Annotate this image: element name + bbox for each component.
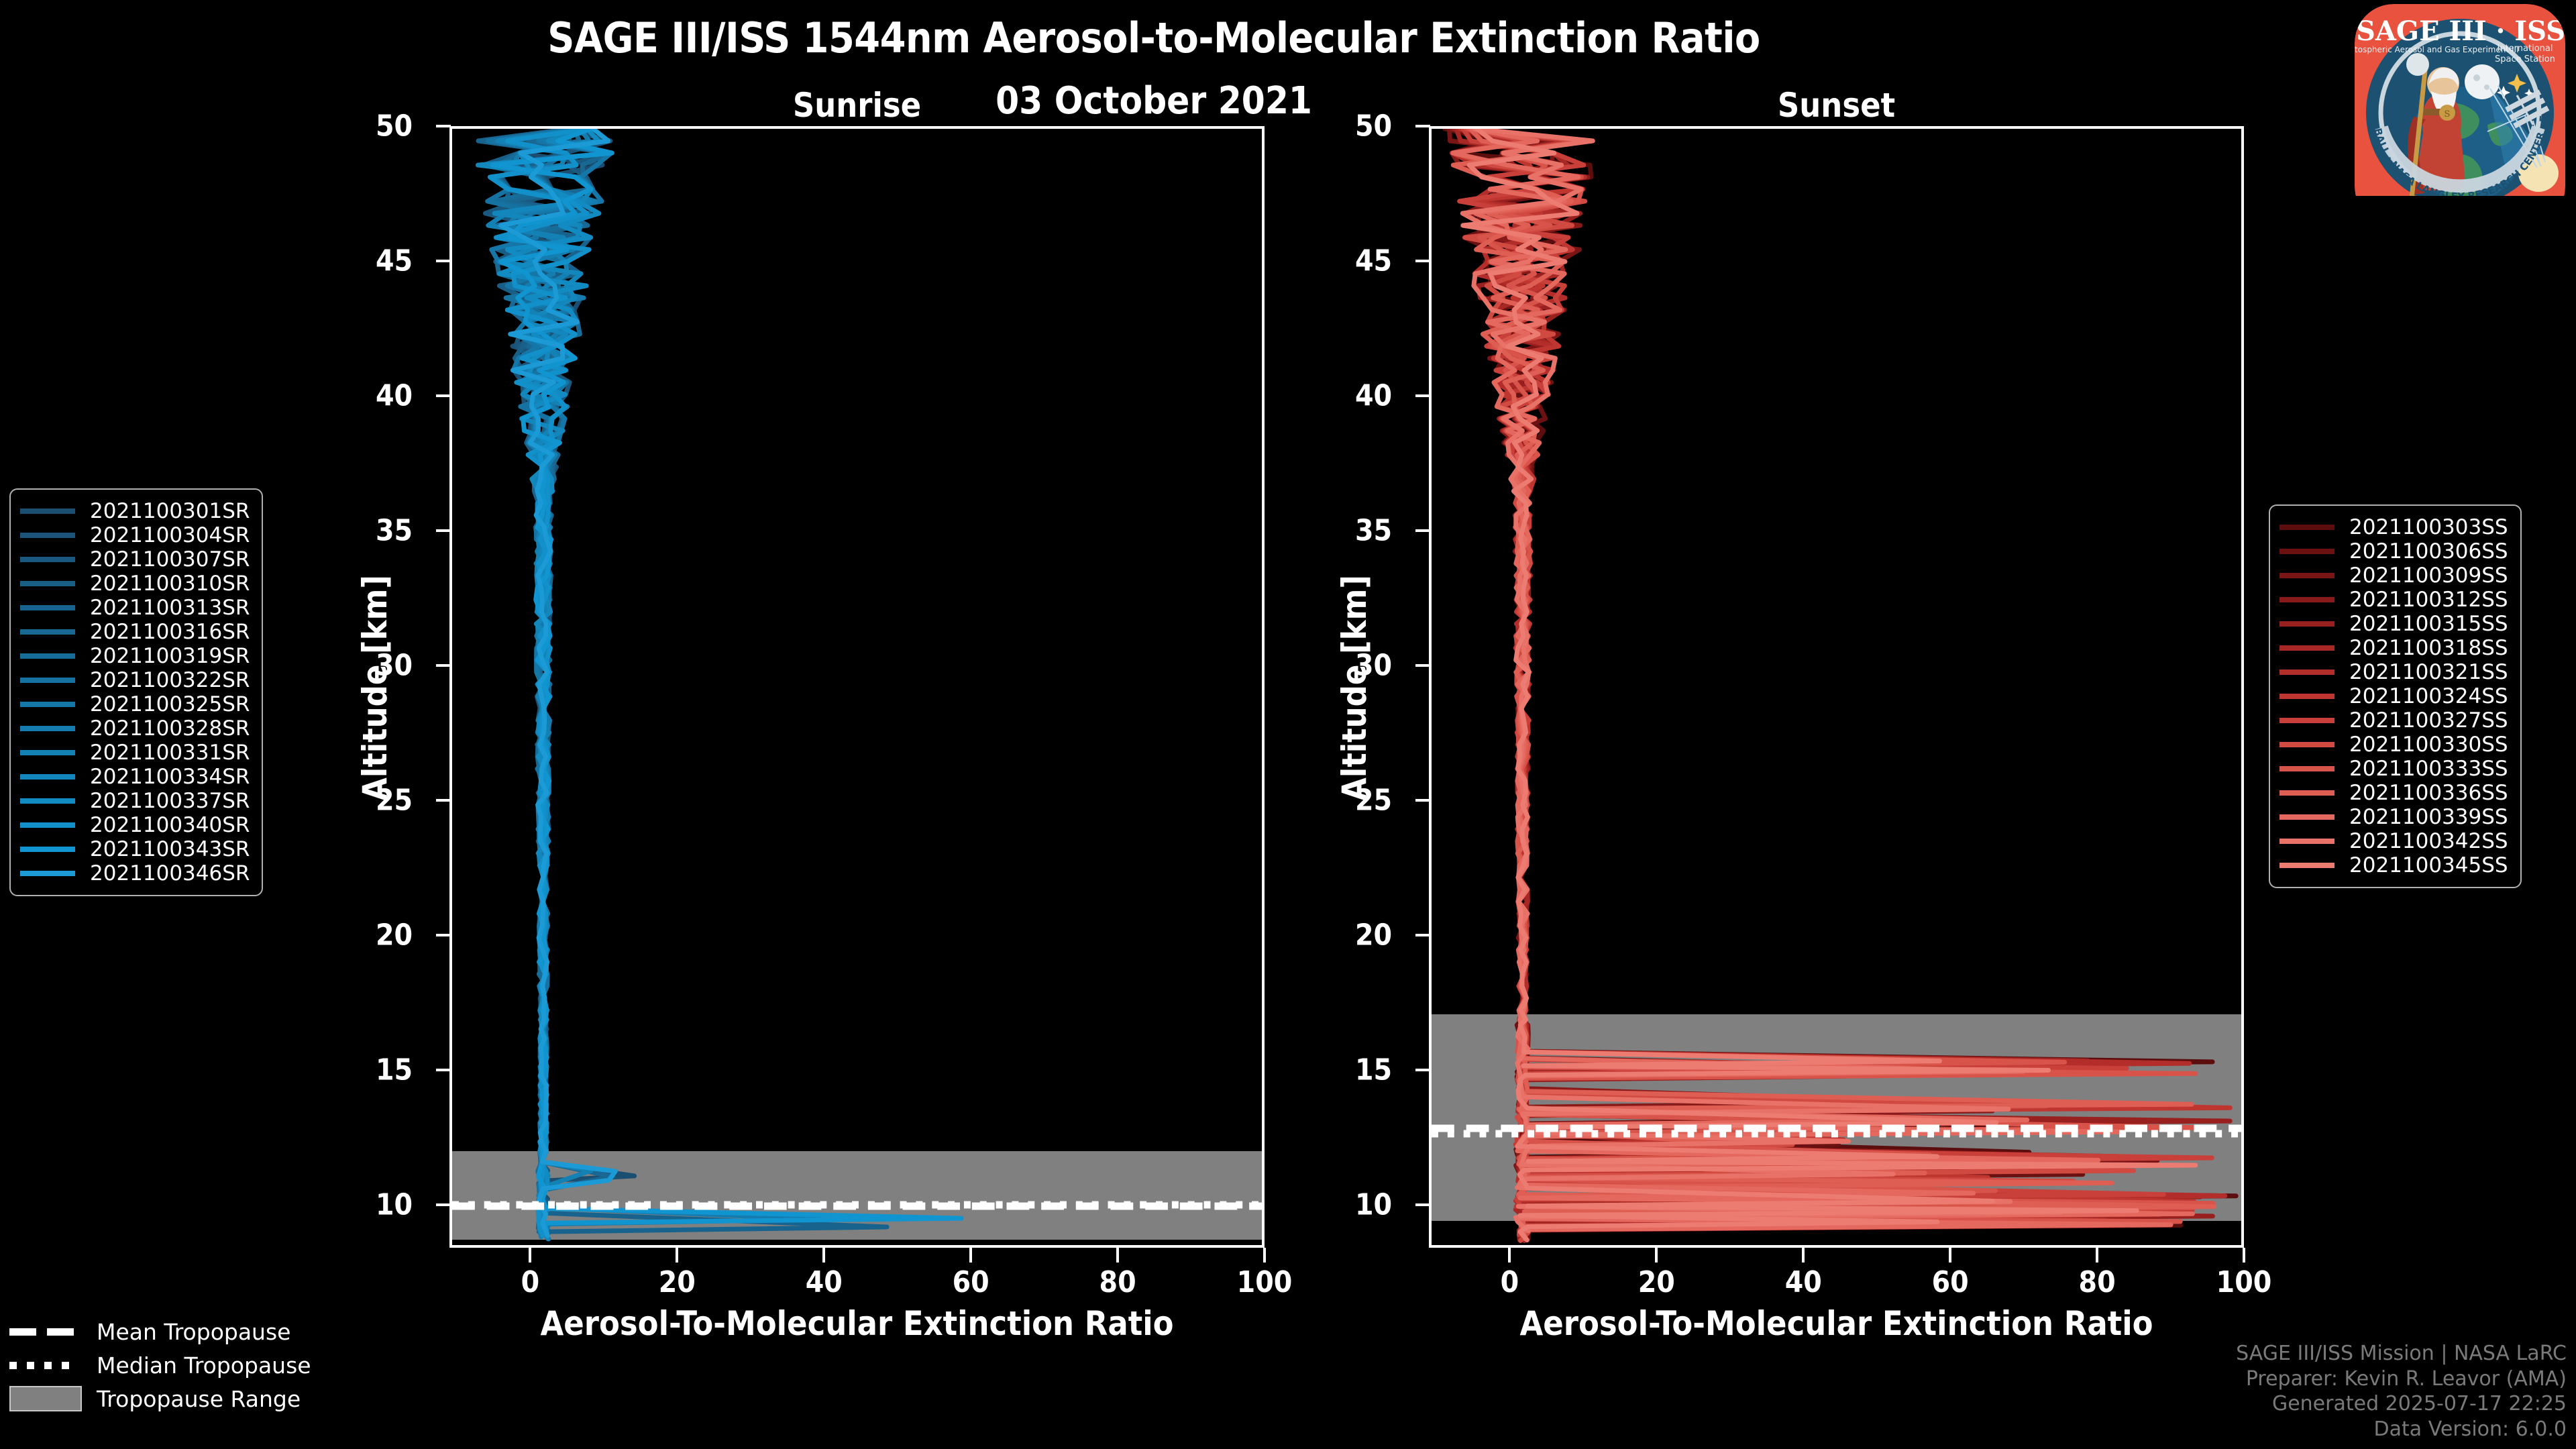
x-axis-tick-0: 0: [521, 1265, 540, 1299]
legend-item-label: 2021100316SR: [90, 620, 250, 644]
legend-color-swatch: [20, 822, 75, 828]
legend-item-label: 2021100334SR: [90, 765, 250, 789]
legend-item-label: 2021100339SS: [2349, 805, 2508, 829]
legend-color-swatch: [2279, 597, 2334, 602]
x-axis-tickmark: [529, 1248, 531, 1263]
x-axis-tickmark: [1655, 1248, 1658, 1263]
y-axis-tickmark: [1415, 799, 1430, 802]
legend-color-swatch: [2279, 814, 2334, 820]
y-axis-tickmark: [436, 799, 451, 802]
range-patch-icon: [9, 1389, 83, 1408]
x-axis-tick-100: 100: [2216, 1265, 2272, 1299]
y-axis-tick-10: 10: [1355, 1187, 1409, 1222]
y-axis-tick-45: 45: [376, 244, 429, 278]
legend-color-swatch: [2279, 790, 2334, 796]
legend-item-2021100325SR[interactable]: 2021100325SR: [20, 692, 250, 716]
y-axis-tickmark: [436, 529, 451, 532]
legend-item-label: 2021100312SS: [2349, 588, 2508, 612]
sunrise-panel-label: Sunrise: [449, 86, 1265, 125]
x-axis-tickmark: [969, 1248, 972, 1263]
legend-item-2021100330SS[interactable]: 2021100330SS: [2279, 733, 2508, 757]
legend-item-2021100312SS[interactable]: 2021100312SS: [2279, 588, 2508, 612]
sunset-panel-label: Sunset: [1429, 86, 2244, 125]
sunrise-plot-area: [449, 126, 1265, 1248]
y-axis-tick-15: 15: [376, 1053, 429, 1087]
legend-color-swatch: [2279, 669, 2334, 675]
sunrise-plot-panel: [449, 126, 1265, 1248]
x-axis-tickmark: [1949, 1248, 1951, 1263]
credits-line-mission: SAGE III/ISS Mission | NASA LaRC: [2236, 1341, 2567, 1366]
legend-item-label: 2021100345SS: [2349, 853, 2508, 877]
credits-line-preparer: Preparer: Kevin R. Leavor (AMA): [2236, 1366, 2567, 1392]
legend-color-swatch: [20, 605, 75, 610]
y-axis-tick-50: 50: [1355, 109, 1409, 144]
legend-color-swatch: [2279, 742, 2334, 747]
legend-item-2021100333SS[interactable]: 2021100333SS: [2279, 757, 2508, 781]
legend-color-swatch: [2279, 863, 2334, 868]
y-axis-tick-20: 20: [1355, 918, 1409, 952]
sunset-x-axis-label: Aerosol-To-Molecular Extinction Ratio: [1429, 1304, 2244, 1343]
x-axis-tickmark: [1116, 1248, 1119, 1263]
tropopause-legend: Mean Tropopause Median Tropopause Tropop…: [9, 1315, 311, 1415]
legend-item-label: 2021100322SR: [90, 668, 250, 692]
y-axis-tickmark: [436, 1203, 451, 1206]
legend-item-label: 2021100304SR: [90, 523, 250, 547]
x-axis-tick-80: 80: [1099, 1265, 1136, 1299]
legend-color-swatch: [20, 750, 75, 755]
y-axis-tick-50: 50: [376, 109, 429, 144]
legend-item-label: 2021100318SS: [2349, 636, 2508, 660]
y-axis-tick-15: 15: [1355, 1053, 1409, 1087]
legend-color-swatch: [20, 871, 75, 876]
legend-item-2021100301SR[interactable]: 2021100301SR: [20, 499, 250, 523]
logo-title: SAGE III · ISS: [2356, 15, 2565, 47]
y-axis-tickmark: [1415, 529, 1430, 532]
logo-subtitle-right-1: International: [2498, 44, 2553, 54]
dashed-line-icon: [9, 1322, 83, 1341]
sunset-legend[interactable]: 2021100303SS2021100306SS2021100309SS2021…: [2269, 504, 2522, 888]
sunrise-y-axis-label: Altitude [km]: [356, 575, 394, 801]
y-axis-tickmark: [1415, 664, 1430, 667]
legend-item-label: 2021100315SS: [2349, 612, 2508, 636]
legend-item-2021100343SR[interactable]: 2021100343SR: [20, 837, 250, 861]
legend-item-2021100310SR[interactable]: 2021100310SR: [20, 572, 250, 596]
x-axis-tickmark: [1508, 1248, 1511, 1263]
credits-line-generated: Generated 2025-07-17 22:25: [2236, 1391, 2567, 1417]
y-axis-tick-35: 35: [376, 513, 429, 547]
legend-color-swatch: [20, 678, 75, 683]
legend-row-mean-tropopause: Mean Tropopause: [9, 1315, 311, 1348]
legend-item-2021100321SS[interactable]: 2021100321SS: [2279, 660, 2508, 684]
svg-text:S: S: [2445, 109, 2451, 119]
legend-item-label: 2021100303SS: [2349, 515, 2508, 539]
legend-item-2021100328SR[interactable]: 2021100328SR: [20, 716, 250, 741]
x-axis-tickmark: [1263, 1248, 1266, 1263]
legend-color-swatch: [20, 798, 75, 804]
x-axis-tick-20: 20: [1638, 1265, 1675, 1299]
y-axis-tickmark: [1415, 394, 1430, 397]
sunset-plot-panel: [1429, 126, 2244, 1248]
legend-item-2021100313SR[interactable]: 2021100313SR: [20, 596, 250, 620]
legend-item-label: 2021100346SR: [90, 861, 250, 885]
legend-color-swatch: [2279, 839, 2334, 844]
legend-item-2021100342SS[interactable]: 2021100342SS: [2279, 829, 2508, 853]
legend-color-swatch: [2279, 694, 2334, 699]
legend-item-label: 2021100325SR: [90, 692, 250, 716]
x-axis-tickmark: [1802, 1248, 1805, 1263]
y-axis-tickmark: [436, 664, 451, 667]
y-axis-tick-40: 40: [376, 378, 429, 413]
y-axis-tickmark: [436, 934, 451, 936]
legend-label-tropopause-range: Tropopause Range: [97, 1386, 301, 1412]
legend-item-2021100319SR[interactable]: 2021100319SR: [20, 644, 250, 668]
logo-subtitle-left: Stratospheric Aerosol and Gas Experiment…: [2349, 45, 2519, 54]
legend-item-label: 2021100301SR: [90, 499, 250, 523]
x-axis-tick-100: 100: [1237, 1265, 1293, 1299]
sage-iii-iss-mission-logo: S BALL · NASA LANGLEY RESEARCH CENTER · …: [2349, 0, 2571, 196]
credits-block: SAGE III/ISS Mission | NASA LaRC Prepare…: [2236, 1341, 2567, 1442]
legend-item-label: 2021100333SS: [2349, 757, 2508, 781]
legend-color-swatch: [2279, 549, 2334, 554]
y-axis-tick-35: 35: [1355, 513, 1409, 547]
x-axis-tick-60: 60: [1932, 1265, 1969, 1299]
legend-item-label: 2021100324SS: [2349, 684, 2508, 708]
legend-item-label: 2021100331SR: [90, 741, 250, 765]
legend-item-label: 2021100343SR: [90, 837, 250, 861]
legend-item-2021100315SS[interactable]: 2021100315SS: [2279, 612, 2508, 636]
legend-item-label: 2021100342SS: [2349, 829, 2508, 853]
legend-color-swatch: [20, 774, 75, 780]
legend-item-2021100324SS[interactable]: 2021100324SS: [2279, 684, 2508, 708]
legend-item-label: 2021100328SR: [90, 716, 250, 741]
legend-item-label: 2021100319SR: [90, 644, 250, 668]
legend-item-2021100304SR[interactable]: 2021100304SR: [20, 523, 250, 547]
legend-row-median-tropopause: Median Tropopause: [9, 1348, 311, 1382]
x-axis-tick-0: 0: [1501, 1265, 1519, 1299]
legend-color-swatch: [20, 508, 75, 514]
y-axis-tick-10: 10: [376, 1187, 429, 1222]
sunrise-legend[interactable]: 2021100301SR2021100304SR2021100307SR2021…: [9, 488, 263, 896]
legend-color-swatch: [2279, 766, 2334, 771]
y-axis-tick-45: 45: [1355, 244, 1409, 278]
legend-item-2021100306SS[interactable]: 2021100306SS: [2279, 539, 2508, 563]
legend-item-label: 2021100306SS: [2349, 539, 2508, 563]
legend-row-tropopause-range: Tropopause Range: [9, 1382, 311, 1415]
legend-item-2021100322SR[interactable]: 2021100322SR: [20, 668, 250, 692]
credits-line-data-version: Data Version: 6.0.0: [2236, 1417, 2567, 1442]
x-axis-tick-60: 60: [953, 1265, 989, 1299]
x-axis-tick-40: 40: [806, 1265, 843, 1299]
legend-item-2021100339SS[interactable]: 2021100339SS: [2279, 805, 2508, 829]
legend-item-label: 2021100340SR: [90, 813, 250, 837]
legend-color-swatch: [2279, 573, 2334, 578]
legend-color-swatch: [20, 702, 75, 707]
legend-color-swatch: [20, 581, 75, 586]
y-axis-tickmark: [436, 125, 451, 127]
x-axis-tickmark: [2243, 1248, 2245, 1263]
logo-subtitle-right-2: Space Station: [2495, 54, 2555, 64]
legend-item-label: 2021100327SS: [2349, 708, 2508, 733]
legend-item-2021100334SR[interactable]: 2021100334SR: [20, 765, 250, 789]
legend-item-2021100307SR[interactable]: 2021100307SR: [20, 547, 250, 572]
legend-item-2021100340SR[interactable]: 2021100340SR: [20, 813, 250, 837]
legend-color-swatch: [20, 726, 75, 731]
legend-color-swatch: [2279, 645, 2334, 651]
x-axis-tickmark: [2096, 1248, 2098, 1263]
x-axis-tickmark: [822, 1248, 825, 1263]
y-axis-tick-20: 20: [376, 918, 429, 952]
dotted-line-icon: [9, 1356, 83, 1375]
sunset-y-axis-label: Altitude [km]: [1335, 575, 1374, 801]
legend-item-label: 2021100313SR: [90, 596, 250, 620]
legend-item-label: 2021100336SS: [2349, 781, 2508, 805]
legend-item-2021100309SS[interactable]: 2021100309SS: [2279, 563, 2508, 588]
legend-item-2021100327SS[interactable]: 2021100327SS: [2279, 708, 2508, 733]
x-axis-tick-80: 80: [2079, 1265, 2116, 1299]
legend-item-2021100345SS[interactable]: 2021100345SS: [2279, 853, 2508, 877]
y-axis-tickmark: [1415, 1203, 1430, 1206]
legend-item-2021100337SR[interactable]: 2021100337SR: [20, 789, 250, 813]
legend-item-label: 2021100310SR: [90, 572, 250, 596]
y-axis-tickmark: [1415, 260, 1430, 262]
legend-color-swatch: [20, 629, 75, 635]
y-axis-tickmark: [436, 394, 451, 397]
y-axis-tickmark: [436, 1069, 451, 1071]
y-axis-tickmark: [1415, 934, 1430, 936]
x-axis-tick-40: 40: [1785, 1265, 1822, 1299]
legend-item-label: 2021100330SS: [2349, 733, 2508, 757]
x-axis-tick-20: 20: [659, 1265, 696, 1299]
legend-item-2021100346SR[interactable]: 2021100346SR: [20, 861, 250, 885]
legend-item-label: 2021100307SR: [90, 547, 250, 572]
legend-color-swatch: [20, 653, 75, 659]
legend-item-2021100316SR[interactable]: 2021100316SR: [20, 620, 250, 644]
legend-label-mean-tropopause: Mean Tropopause: [97, 1319, 290, 1345]
legend-item-2021100336SS[interactable]: 2021100336SS: [2279, 781, 2508, 805]
x-axis-tickmark: [676, 1248, 678, 1263]
legend-label-median-tropopause: Median Tropopause: [97, 1352, 311, 1379]
legend-color-swatch: [20, 847, 75, 852]
legend-color-swatch: [2279, 718, 2334, 723]
legend-item-2021100318SS[interactable]: 2021100318SS: [2279, 636, 2508, 660]
page-title: SAGE III/ISS 1544nm Aerosol-to-Molecular…: [0, 13, 2308, 62]
legend-color-swatch: [2279, 525, 2334, 530]
legend-item-label: 2021100309SS: [2349, 563, 2508, 588]
legend-item-label: 2021100321SS: [2349, 660, 2508, 684]
y-axis-tickmark: [1415, 125, 1430, 127]
legend-color-swatch: [20, 533, 75, 538]
legend-item-2021100331SR[interactable]: 2021100331SR: [20, 741, 250, 765]
legend-item-2021100303SS[interactable]: 2021100303SS: [2279, 515, 2508, 539]
sunrise-x-axis-label: Aerosol-To-Molecular Extinction Ratio: [449, 1304, 1265, 1343]
sunset-plot-area: [1429, 126, 2244, 1248]
legend-item-label: 2021100337SR: [90, 789, 250, 813]
y-axis-tickmark: [1415, 1069, 1430, 1071]
y-axis-tickmark: [436, 260, 451, 262]
y-axis-tick-40: 40: [1355, 378, 1409, 413]
legend-color-swatch: [20, 557, 75, 562]
legend-color-swatch: [2279, 621, 2334, 627]
